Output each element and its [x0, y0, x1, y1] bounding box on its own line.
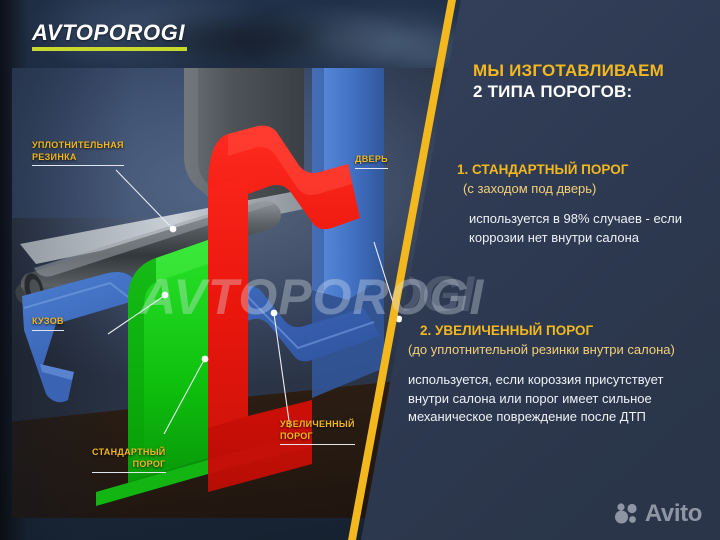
- brand-logo: AVTOPOROGI: [32, 22, 187, 51]
- avito-label: Avito: [645, 502, 702, 526]
- label-extended-sill: УВЕЛИЧЕННЫЙ ПОРОГ: [280, 408, 355, 445]
- avito-dots-icon: [614, 502, 640, 526]
- promo-image: AVTOPOROGI: [0, 0, 720, 540]
- avito-watermark: Avito: [614, 502, 702, 526]
- block-1-title: 1. СТАНДАРТНЫЙ ПОРОГ: [457, 161, 719, 179]
- label-seal-rubber: УПЛОТНИТЕЛЬНАЯ РЕЗИНКА: [32, 129, 124, 166]
- block-2-title: 2. УВЕЛИЧЕННЫЙ ПОРОГ: [408, 322, 708, 340]
- headline-line-2: 2 ТИПА ПОРОГОВ:: [473, 81, 713, 102]
- label-door: ДВЕРЬ: [355, 143, 388, 169]
- sill-type-block-2: 2. УВЕЛИЧЕННЫЙ ПОРОГ (до уплотнительной …: [408, 322, 708, 427]
- right-text-content: МЫ ИЗГОТАВЛИВАЕМ 2 ТИПА ПОРОГОВ: 1. СТАН…: [340, 0, 720, 540]
- label-body: КУЗОВ: [32, 305, 64, 331]
- label-standard-sill: СТАНДАРТНЫЙ ПОРОГ: [92, 436, 166, 473]
- block-2-subtitle: (до уплотнительной резинки внутри салона…: [408, 341, 708, 358]
- headline-line-1: МЫ ИЗГОТАВЛИВАЕМ: [473, 60, 713, 81]
- headline: МЫ ИЗГОТАВЛИВАЕМ 2 ТИПА ПОРОГОВ:: [473, 60, 713, 103]
- block-1-body: используется в 98% случаев - если корроз…: [457, 210, 719, 248]
- brand-logo-underline: [32, 47, 187, 51]
- brand-logo-text: AVTOPOROGI: [32, 22, 187, 44]
- sill-type-block-1: 1. СТАНДАРТНЫЙ ПОРОГ (с заходом под двер…: [457, 161, 719, 247]
- block-2-body: используется, если короззия присутствует…: [408, 371, 708, 428]
- block-1-subtitle: (с заходом под дверь): [457, 180, 719, 197]
